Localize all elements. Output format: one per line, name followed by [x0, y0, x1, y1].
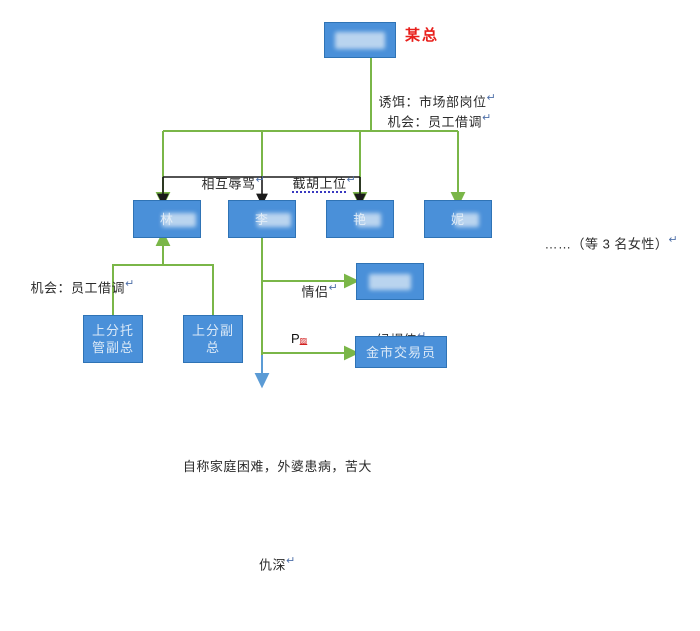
- note-bottom-line2: 仇深↵: [120, 533, 410, 593]
- node-woman-ni[interactable]: 妮: [424, 200, 492, 238]
- node-trader[interactable]: 金市交易员: [355, 336, 447, 368]
- note-bottom: 自称家庭困难，外婆患病，苦大 仇深↵: [120, 400, 410, 631]
- note-bottom-line1-text: 自称家庭困难，外婆患病，苦大: [183, 459, 372, 474]
- pilcrow-mark: ↵: [255, 174, 265, 186]
- node-trader-label: 金市交易员: [366, 344, 436, 361]
- node-subordinate-1-line1: 上分托: [92, 322, 134, 339]
- redaction-blur: [455, 213, 479, 227]
- node-woman-li[interactable]: 李: [228, 200, 296, 238]
- node-partner[interactable]: [356, 263, 424, 300]
- node-woman-lin[interactable]: 林: [133, 200, 201, 238]
- edge-label-cut-in-line-text: 截胡上位: [292, 176, 346, 193]
- edge-label-p-mark-text: P: [291, 331, 300, 346]
- edge-label-p-mark: P▨: [291, 331, 307, 346]
- note-bottom-line2-text: 仇深: [259, 557, 286, 572]
- redaction-blur: [257, 213, 291, 227]
- note-etc-women-text: ……（等 3 名女性）: [544, 236, 668, 251]
- pilcrow-mark: ↵: [286, 555, 296, 567]
- redaction-blur: [357, 213, 381, 227]
- node-woman-yan[interactable]: 艳: [326, 200, 394, 238]
- redaction-blur: [335, 32, 385, 49]
- edge-label-opportunity-left: 机会：员工借调↵: [14, 256, 135, 316]
- edge-label-opportunity-top-text: 机会：员工借调: [387, 114, 482, 129]
- diagram-canvas: 某总 诱饵：市场部岗位↵ 机会：员工借调↵ 相互辱骂↵ 截胡上位↵ 林 李 艳 …: [0, 0, 700, 452]
- pilcrow-mark: ↵: [346, 174, 356, 186]
- node-subordinate-1-line2: 管副总: [92, 339, 134, 356]
- node-subordinate-2[interactable]: 上分副 总: [183, 315, 243, 363]
- node-boss[interactable]: [324, 22, 396, 58]
- node-subordinate-2-line2: 总: [206, 339, 220, 356]
- annotation-boss: 某总: [405, 26, 439, 45]
- edge-label-opportunity-left-text: 机会：员工借调: [30, 280, 125, 295]
- redaction-blur: [369, 274, 411, 290]
- node-subordinate-2-line1: 上分副: [192, 322, 234, 339]
- pilcrow-mark: ↵: [668, 234, 678, 246]
- note-bottom-line1: 自称家庭困难，外婆患病，苦大: [120, 438, 410, 495]
- redacted-char-mark: ▨: [300, 336, 308, 345]
- redaction-blur: [162, 213, 196, 227]
- note-etc-women: ……（等 3 名女性）↵: [528, 212, 678, 272]
- edge-label-couple: 情侣↵: [285, 260, 338, 320]
- edge-label-couple-text: 情侣: [301, 284, 328, 299]
- node-subordinate-1[interactable]: 上分托 管副总: [83, 315, 143, 363]
- edge-label-opportunity-top: 机会：员工借调↵: [371, 90, 491, 150]
- pilcrow-mark: ↵: [482, 112, 492, 124]
- edge-label-mutual-abuse-text: 相互辱骂: [201, 176, 255, 191]
- pilcrow-mark: ↵: [328, 282, 338, 294]
- pilcrow-mark: ↵: [125, 278, 135, 290]
